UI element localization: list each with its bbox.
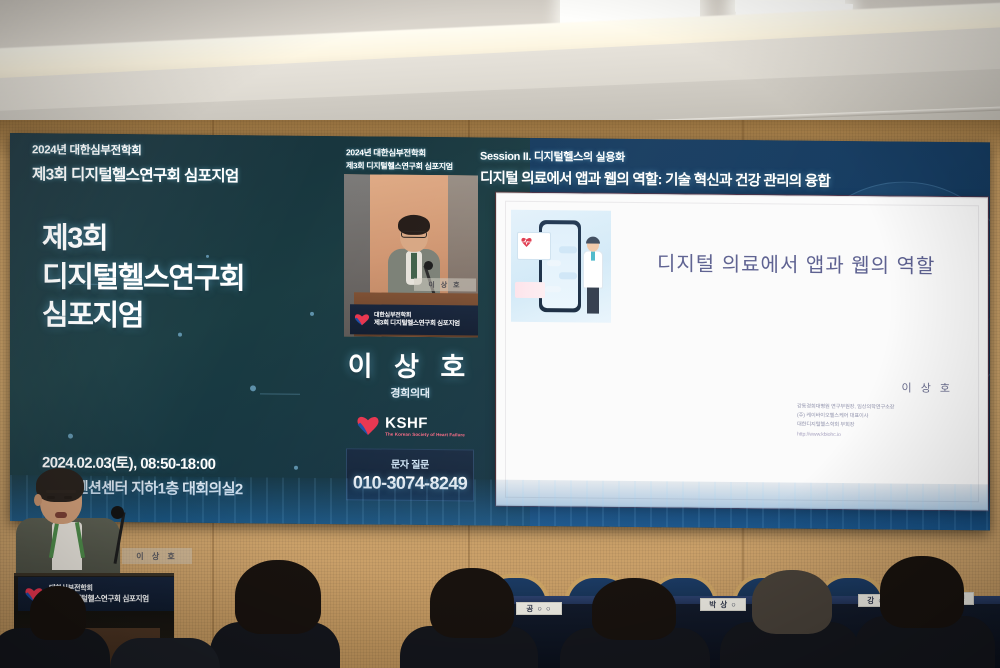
- audience: [0, 558, 1000, 668]
- ceiling: [0, 0, 1000, 120]
- kshf-logo-block: KSHF The Korean Society of Heart Failure: [340, 408, 480, 443]
- video-speaker-tie: [411, 253, 417, 279]
- poster-subkicker: 제3회 디지털헬스연구회 심포지엄: [32, 162, 332, 187]
- sms-label: 문자 질문: [391, 456, 429, 471]
- illustration-chat-bubble: [559, 272, 577, 279]
- poster-title-line-1: 제3회: [42, 219, 244, 260]
- speaker-name: 이 상 호: [340, 344, 480, 384]
- illustration-chat-bubble: [545, 286, 561, 292]
- illustration-doctor-hair: [586, 237, 600, 244]
- speaker-brow: [46, 490, 76, 493]
- audience-shoulders: [110, 638, 220, 668]
- session-label: Session II. 디지털헬스의 실용화: [480, 148, 980, 169]
- slide-affiliation-line-3: 대한디지털헬스학회 부회장: [797, 421, 967, 432]
- audience-head: [752, 570, 832, 634]
- speaker-ear: [34, 494, 42, 506]
- speaker-eye-right: [64, 496, 72, 499]
- illustration-accent-block: [515, 282, 545, 298]
- poster-kicker: 2024년 대한심부전학회: [32, 141, 332, 160]
- speaker-panel: 2024년 대한심부전학회 제3회 디지털헬스연구회 심포지엄 이 상: [340, 136, 480, 525]
- speaker-eye-left: [47, 496, 55, 499]
- video-speaker-glasses: [401, 231, 427, 238]
- kshf-heart-icon: [355, 413, 381, 437]
- speaker-panel-kicker: 2024년 대한심부전학회: [346, 146, 478, 159]
- audience-head: [235, 560, 321, 634]
- conference-hall-photo: 2024년 대한심부전학회 제3회 디지털헬스연구회 심포지엄 제3회 디지털헬…: [0, 0, 1000, 668]
- video-banner-text: 대한심부전학회 제3회 디지털헬스연구회 심포지엄: [374, 312, 460, 328]
- poster-title-line-2: 디지털헬스연구회: [42, 258, 244, 299]
- speaker-panel-header: 2024년 대한심부전학회 제3회 디지털헬스연구회 심포지엄: [346, 146, 478, 172]
- poster-title-line-3: 심포지엄: [42, 296, 244, 337]
- illustration-doctor-figure: [581, 238, 605, 316]
- illustration-heart-icon: [520, 235, 533, 247]
- speaker-affiliation: 경희의대: [340, 384, 480, 401]
- session-header: Session II. 디지털헬스의 실용화 디지털 의료에서 앱과 웹의 역할…: [480, 148, 980, 193]
- speaker-mouth: [55, 512, 67, 518]
- speaker-panel-subkicker: 제3회 디지털헬스연구회 심포지엄: [346, 160, 478, 172]
- slide-url: http://www.kbiohc.io: [797, 431, 967, 442]
- video-banner-line-2: 제3회 디지털헬스연구회 심포지엄: [374, 319, 460, 327]
- illustration-doctor-tie: [591, 252, 595, 261]
- video-nameplate: 이 상 호: [414, 278, 476, 292]
- illustration-chat-bubble: [547, 260, 561, 266]
- audience-head: [592, 578, 676, 640]
- speaker-video-feed: 이 상 호 대한심부전학회 제3회 디지털헬스연구회 심포지엄: [344, 174, 478, 337]
- microphone-head: [111, 506, 124, 519]
- kshf-logo-name: KSHF: [385, 415, 428, 430]
- illustration-chat-bubble: [559, 246, 577, 253]
- slide-author: 이 상 호: [902, 380, 953, 396]
- kshf-logo-icon: [353, 312, 371, 326]
- audience-head: [880, 556, 964, 628]
- audience-head: [30, 586, 86, 640]
- kshf-logo-text: KSHF The Korean Society of Heart Failure: [385, 415, 465, 437]
- video-podium-banner: 대한심부전학회 제3회 디지털헬스연구회 심포지엄: [350, 304, 478, 335]
- illustration-doctor-legs: [587, 288, 599, 314]
- kshf-logo-tagline: The Korean Society of Heart Failure: [385, 431, 465, 437]
- presentation-slide: 디지털 의료에서 앱과 웹의 역할 이 상 호 강동경희대병원 연구부원장, 임…: [496, 193, 988, 511]
- telemedicine-illustration: [511, 210, 611, 323]
- poster-title: 제3회 디지털헬스연구회 심포지엄: [42, 219, 244, 337]
- audience-head: [430, 568, 514, 638]
- slide-affiliation: 강동경희대병원 연구부원장, 임상의학연구소장 (주) 케이바이오헬스케어 대표…: [797, 403, 967, 442]
- slide-title: 디지털 의료에서 앱과 웹의 역할: [657, 247, 971, 279]
- video-microphone-head: [424, 261, 433, 270]
- speaker-hair: [36, 468, 84, 502]
